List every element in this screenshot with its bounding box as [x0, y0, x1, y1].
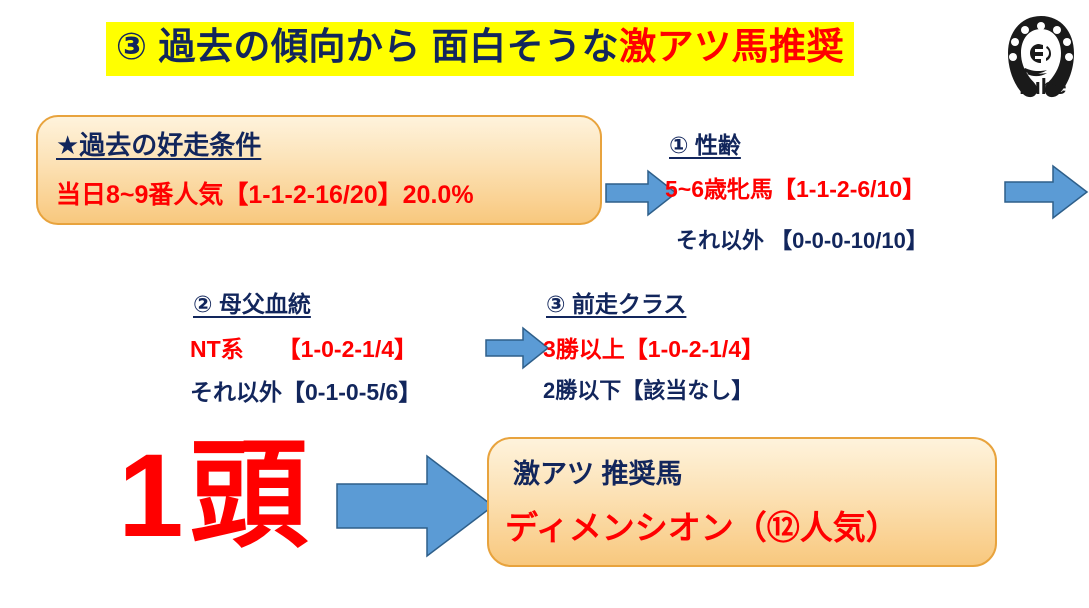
svg-text:Tube: Tube: [1016, 74, 1067, 99]
section-hit-sei-rei: 5~6歳牝馬【1-1-2-6/10】: [665, 170, 925, 204]
recommended-horse-name: ディメンシオン（⑫人気）: [505, 501, 899, 549]
arrow-right-icon-large: [335, 452, 495, 560]
section-hit-zenso-class: 3勝以上【1-0-2-1/4】: [543, 330, 764, 364]
section-hit-label-bofu-ketto: NT系: [190, 336, 244, 362]
section-hit-bofu-ketto: NT系【1-0-2-1/4】: [190, 330, 417, 364]
arrow-right-icon-3: [1003, 163, 1089, 221]
recommended-horse-label: 激アツ 推奨馬: [513, 452, 683, 491]
section-heading-zenso-class: ③ 前走クラス: [546, 285, 686, 319]
page-title: ③ 過去の傾向から 面白そうな激アツ馬推奨: [0, 22, 960, 76]
section-miss-bofu-ketto: それ以外【0-1-0-5/6】: [190, 373, 421, 407]
arrow-right-icon-2: [484, 325, 550, 371]
title-prefix: ③ 過去の傾向から 面白そうな: [116, 26, 619, 67]
past-conditions-heading: ★過去の好走条件: [56, 125, 261, 162]
result-count: 1頭: [118, 437, 314, 555]
horseshoe-tube-logo: Tube: [995, 8, 1087, 103]
title-emphasis: 激アツ馬推奨: [619, 26, 844, 67]
title-highlight: ③ 過去の傾向から 面白そうな激アツ馬推奨: [106, 22, 854, 76]
section-miss-sei-rei: それ以外 【0-0-0-10/10】: [676, 223, 928, 255]
section-miss-zenso-class: 2勝以下【該当なし】: [543, 373, 753, 405]
slide-canvas: ③ 過去の傾向から 面白そうな激アツ馬推奨 Tube ★過去の好走条件 当日8~…: [0, 0, 1089, 608]
section-heading-sei-rei: ① 性齢: [669, 126, 741, 160]
section-hit-record-bofu-ketto: 【1-0-2-1/4】: [278, 336, 417, 362]
section-heading-bofu-ketto: ② 母父血統: [193, 285, 311, 319]
past-conditions-record: 当日8~9番人気【1-1-2-16/20】20.0%: [56, 175, 474, 211]
